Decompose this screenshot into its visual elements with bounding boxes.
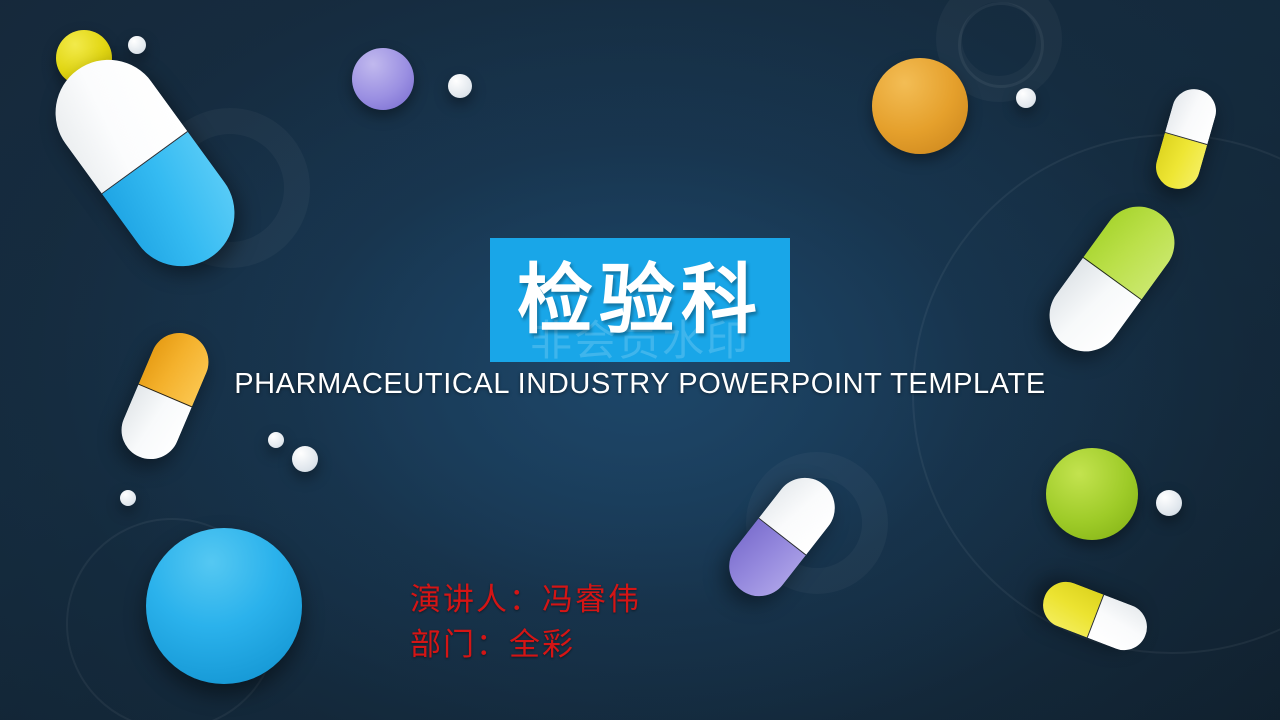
page-title: 检验科	[517, 262, 763, 338]
sphere-white-small-left-lower	[292, 446, 318, 472]
sphere-orange	[872, 58, 968, 154]
ring-outline-top-right-small	[958, 2, 1044, 88]
presenter-name-line: 演讲人：冯睿伟	[410, 578, 641, 623]
sphere-white-small-left	[268, 432, 284, 448]
sphere-white-small-upper	[448, 74, 472, 98]
title-banner: 检验科 非会员水印	[490, 238, 790, 362]
presenter-block: 演讲人：冯睿伟 部门：全彩	[410, 578, 641, 668]
sphere-white-small-right	[1156, 490, 1182, 516]
sphere-blue-large	[146, 528, 302, 684]
sphere-green	[1046, 448, 1138, 540]
department-line: 部门：全彩	[410, 623, 641, 668]
presentation-slide: 检验科 非会员水印 PHARMACEUTICAL INDUSTRY POWERP…	[0, 0, 1280, 720]
sphere-purple	[352, 48, 414, 110]
sphere-white-small-top	[128, 36, 146, 54]
sphere-white-small-top-right	[1016, 88, 1036, 108]
subtitle: PHARMACEUTICAL INDUSTRY POWERPOINT TEMPL…	[0, 368, 1280, 401]
sphere-white-small-bottom-left	[120, 490, 136, 506]
